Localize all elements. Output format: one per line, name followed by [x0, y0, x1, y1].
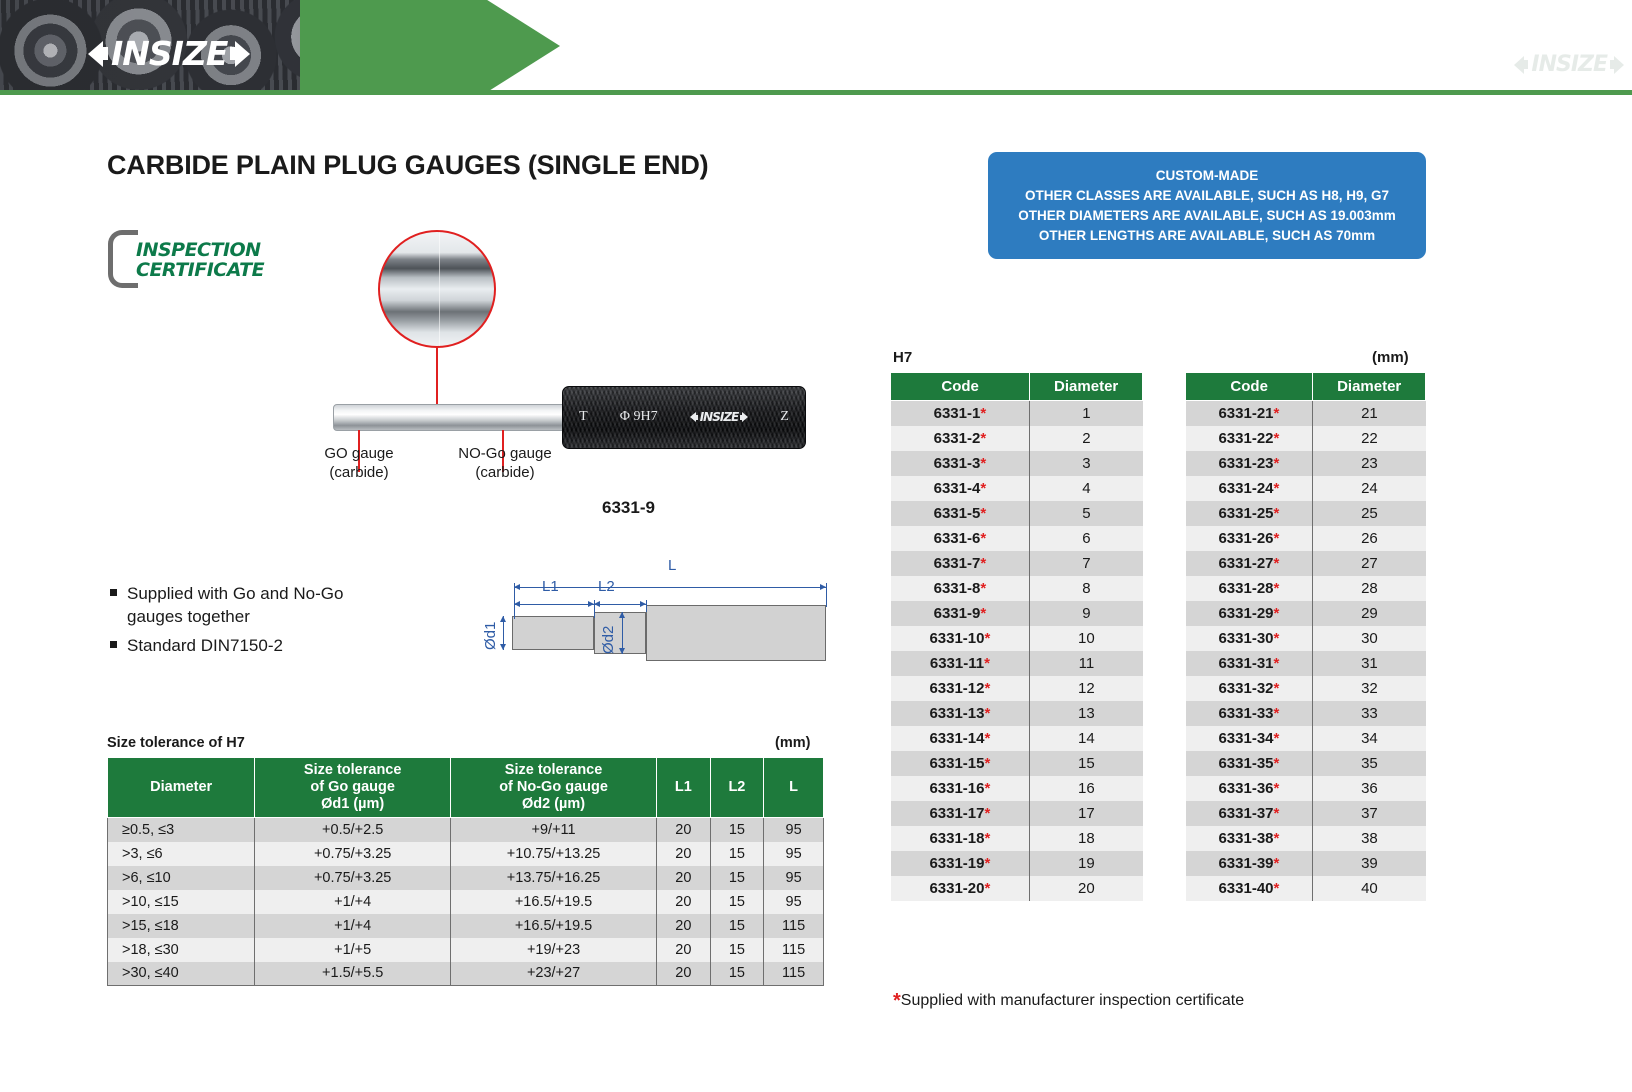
code-value: 6331-11	[930, 655, 984, 672]
code-asterisk-icon: *	[1274, 405, 1280, 422]
code-value: 6331-40	[1218, 880, 1273, 897]
code-cell: 6331-23*	[1186, 451, 1313, 476]
diameter-cell: 38	[1313, 826, 1426, 851]
code-cell: 6331-30*	[1186, 626, 1313, 651]
tolerance-cell-l2: 15	[710, 818, 764, 842]
code-cell: 6331-22*	[1186, 426, 1313, 451]
diameter-cell: 21	[1313, 401, 1426, 426]
table-row: 6331-24*24	[1186, 476, 1426, 501]
page-header: INSIZE INSIZE	[0, 0, 1632, 96]
watermark-wordmark: INSIZE	[1528, 52, 1610, 77]
tolerance-cell-l2: 15	[710, 914, 764, 938]
code-cell: 6331-10*	[891, 626, 1030, 651]
code-value: 6331-36	[1218, 780, 1273, 797]
tolerance-cell-l: 95	[764, 842, 824, 866]
code-value: 6331-8	[934, 580, 981, 597]
code-cell: 6331-11*	[891, 651, 1030, 676]
code-value: 6331-22	[1218, 430, 1273, 447]
feature-text: Supplied with Go and No-Go gauges togeth…	[127, 582, 390, 628]
tolerance-cell-nogo: +19/+23	[451, 938, 657, 962]
table-row: 6331-3*3	[891, 451, 1143, 476]
code-asterisk-icon: *	[1274, 505, 1280, 522]
code-asterisk-icon: *	[1274, 455, 1280, 472]
handle-mark-size: Φ 9H7	[620, 409, 658, 425]
tolerance-cell-go: +1/+4	[255, 890, 451, 914]
tolerance-cell-go: +0.75/+3.25	[255, 842, 451, 866]
code-value: 6331-19	[929, 855, 984, 872]
table-row: 6331-30*30	[1186, 626, 1426, 651]
tolerance-cell-nogo: +13.75/+16.25	[451, 866, 657, 890]
diameter-cell: 33	[1313, 701, 1426, 726]
nogo-gauge-label-line2: (carbide)	[430, 463, 580, 482]
diameter-cell: 24	[1313, 476, 1426, 501]
handle-mark-z: Z	[780, 409, 789, 425]
table-row: 6331-7*7	[891, 551, 1143, 576]
code-cell: 6331-38*	[1186, 826, 1313, 851]
code-value: 6331-6	[934, 530, 981, 547]
table-row: 6331-40*40	[1186, 876, 1426, 901]
code-cell: 6331-9*	[891, 601, 1030, 626]
diagram-dim-d2-down-arrow-icon	[619, 648, 625, 654]
code-asterisk-icon: *	[985, 780, 991, 797]
code-asterisk-icon: *	[985, 680, 991, 697]
diameter-cell: 2	[1030, 426, 1143, 451]
product-code-label: 6331-9	[602, 498, 655, 518]
diagram-handle-body	[646, 605, 826, 661]
col-header-l: L	[764, 758, 824, 818]
tolerance-cell-diameter: >15, ≤18	[108, 914, 255, 938]
code-value: 6331-24	[1218, 480, 1273, 497]
code-asterisk-icon: *	[985, 630, 991, 647]
code-asterisk-icon: *	[1274, 530, 1280, 547]
code-value: 6331-35	[1218, 755, 1273, 772]
code-cell: 6331-18*	[891, 826, 1030, 851]
code-table-right-body: 6331-21*216331-22*226331-23*236331-24*24…	[1186, 401, 1426, 901]
code-value: 6331-28	[1218, 580, 1273, 597]
col-header-diameter: Diameter	[108, 758, 255, 818]
tolerance-table: Diameter Size tolerance of Go gauge Ød1 …	[107, 757, 824, 986]
code-asterisk-icon: *	[985, 705, 991, 722]
code-asterisk-icon: *	[980, 430, 986, 447]
diameter-cell: 5	[1030, 501, 1143, 526]
table-row: 6331-2*2	[891, 426, 1143, 451]
square-bullet-icon	[110, 589, 117, 596]
certificate-label: CERTIFICATE	[136, 260, 264, 280]
col-header-diameter: Diameter	[1030, 373, 1143, 401]
code-cell: 6331-26*	[1186, 526, 1313, 551]
diagram-dim-line-L1	[514, 604, 594, 605]
diagram-dim-L1-left-arrow-icon	[514, 601, 520, 607]
inspection-certificate-text: INSPECTION CERTIFICATE	[136, 240, 264, 280]
diameter-cell: 4	[1030, 476, 1143, 501]
go-gauge-label-line1: GO gauge	[284, 444, 434, 463]
code-value: 6331-21	[1218, 405, 1273, 422]
code-value: 6331-38	[1218, 830, 1273, 847]
certificate-bracket-icon	[108, 230, 138, 288]
code-cell: 6331-3*	[891, 451, 1030, 476]
custom-made-info-box: CUSTOM-MADE OTHER CLASSES ARE AVAILABLE,…	[988, 152, 1426, 259]
table-row: >30, ≤40+1.5/+5.5+23/+272015115	[108, 962, 824, 986]
tolerance-cell-l1: 20	[657, 962, 711, 986]
footnote-text: Supplied with manufacturer inspection ce…	[901, 992, 1244, 1009]
tolerance-cell-go: +0.75/+3.25	[255, 866, 451, 890]
code-asterisk-icon: *	[980, 480, 986, 497]
handle-insize-logo: INSIZE	[690, 410, 749, 424]
table-row: 6331-27*27	[1186, 551, 1426, 576]
tolerance-cell-diameter: >30, ≤40	[108, 962, 255, 986]
diameter-cell: 13	[1030, 701, 1143, 726]
asterisk-footnote: *Supplied with manufacturer inspection c…	[893, 990, 1244, 1013]
watermark-right-arrow-icon	[1614, 56, 1624, 74]
carbide-surface-detail-circle	[378, 230, 496, 348]
table-row: 6331-35*35	[1186, 751, 1426, 776]
tolerance-cell-nogo: +16.5/+19.5	[451, 890, 657, 914]
table-row: 6331-12*12	[891, 676, 1143, 701]
feature-list: Supplied with Go and No-Go gauges togeth…	[110, 582, 390, 663]
code-cell: 6331-14*	[891, 726, 1030, 751]
code-asterisk-icon: *	[985, 755, 991, 772]
code-asterisk-icon: *	[1274, 705, 1280, 722]
code-value: 6331-9	[934, 605, 981, 622]
table-row: 6331-20*20	[891, 876, 1143, 901]
table-row: 6331-1*1	[891, 401, 1143, 426]
table-row: 6331-38*38	[1186, 826, 1426, 851]
tolerance-cell-l1: 20	[657, 842, 711, 866]
code-asterisk-icon: *	[1274, 580, 1280, 597]
code-cell: 6331-13*	[891, 701, 1030, 726]
tolerance-cell-nogo: +9/+11	[451, 818, 657, 842]
feature-text: Standard DIN7150-2	[127, 634, 283, 657]
detail-leader-line	[436, 348, 438, 405]
diameter-cell: 14	[1030, 726, 1143, 751]
diameter-cell: 30	[1313, 626, 1426, 651]
diameter-cell: 27	[1313, 551, 1426, 576]
code-cell: 6331-5*	[891, 501, 1030, 526]
tolerance-cell-l: 95	[764, 890, 824, 914]
code-asterisk-icon: *	[980, 580, 986, 597]
table-row: 6331-21*21	[1186, 401, 1426, 426]
table-row: 6331-34*34	[1186, 726, 1426, 751]
diagram-dim-d1-up-arrow-icon	[500, 616, 506, 622]
col-header-code: Code	[891, 373, 1030, 401]
col-header-l2: L2	[710, 758, 764, 818]
tolerance-cell-go: +1/+4	[255, 914, 451, 938]
tolerance-cell-l2: 15	[710, 890, 764, 914]
table-header-row: Code Diameter	[1186, 373, 1426, 401]
handle-logo-wordmark: INSIZE	[698, 410, 741, 424]
code-asterisk-icon: *	[1274, 855, 1280, 872]
diameter-cell: 8	[1030, 576, 1143, 601]
go-gauge-callout-label: GO gauge (carbide)	[284, 444, 434, 482]
handle-mark-t: T	[579, 409, 588, 425]
code-asterisk-icon: *	[1274, 780, 1280, 797]
code-cell: 6331-36*	[1186, 776, 1313, 801]
code-asterisk-icon: *	[985, 830, 991, 847]
table-row: 6331-32*32	[1186, 676, 1426, 701]
code-cell: 6331-16*	[891, 776, 1030, 801]
tolerance-cell-go: +1/+5	[255, 938, 451, 962]
diameter-cell: 28	[1313, 576, 1426, 601]
tolerance-cell-l: 95	[764, 818, 824, 842]
diameter-cell: 35	[1313, 751, 1426, 776]
diagram-section-d1	[512, 616, 594, 650]
code-value: 6331-25	[1218, 505, 1273, 522]
diameter-cell: 12	[1030, 676, 1143, 701]
code-value: 6331-27	[1218, 555, 1273, 572]
table-row: 6331-11*11	[891, 651, 1143, 676]
table-row: 6331-39*39	[1186, 851, 1426, 876]
code-cell: 6331-12*	[891, 676, 1030, 701]
tolerance-cell-diameter: >6, ≤10	[108, 866, 255, 890]
logo-right-arrow-icon	[235, 41, 250, 67]
logo-wordmark: INSIZE	[108, 34, 230, 73]
watermark-left-arrow-icon	[1514, 56, 1524, 74]
diameter-cell: 11	[1030, 651, 1143, 676]
code-value: 6331-33	[1218, 705, 1273, 722]
tolerance-cell-nogo: +10.75/+13.25	[451, 842, 657, 866]
code-cell: 6331-1*	[891, 401, 1030, 426]
tolerance-cell-l1: 20	[657, 866, 711, 890]
diameter-cell: 22	[1313, 426, 1426, 451]
insize-logo: INSIZE	[88, 34, 250, 73]
tolerance-cell-l: 115	[764, 962, 824, 986]
code-cell: 6331-24*	[1186, 476, 1313, 501]
code-cell: 6331-8*	[891, 576, 1030, 601]
code-cell: 6331-15*	[891, 751, 1030, 776]
tolerance-cell-l2: 15	[710, 842, 764, 866]
code-cell: 6331-40*	[1186, 876, 1313, 901]
code-value: 6331-3	[934, 455, 981, 472]
code-cell: 6331-2*	[891, 426, 1030, 451]
code-cell: 6331-33*	[1186, 701, 1313, 726]
code-asterisk-icon: *	[984, 655, 990, 672]
code-value: 6331-39	[1218, 855, 1273, 872]
table-row: 6331-13*13	[891, 701, 1143, 726]
tolerance-cell-l1: 20	[657, 914, 711, 938]
col-header-nogo-l3: Ød2 (µm)	[454, 796, 653, 813]
carbide-gauge-pin	[333, 404, 568, 431]
table-row: >18, ≤30+1/+5+19/+232015115	[108, 938, 824, 962]
table-row: 6331-4*4	[891, 476, 1143, 501]
col-header-go-l1: Size tolerance	[258, 762, 447, 779]
code-asterisk-icon: *	[1274, 655, 1280, 672]
tolerance-cell-l1: 20	[657, 938, 711, 962]
code-value: 6331-16	[929, 780, 984, 797]
square-bullet-icon	[110, 641, 117, 648]
code-asterisk-icon: *	[985, 730, 991, 747]
col-header-nogo-l1: Size tolerance	[454, 762, 653, 779]
diagram-label-L1: L1	[542, 578, 559, 595]
gauge-handle: T Φ 9H7 INSIZE Z	[562, 386, 806, 449]
tolerance-cell-go: +0.5/+2.5	[255, 818, 451, 842]
table-row: 6331-10*10	[891, 626, 1143, 651]
custom-made-lengths-line: OTHER LENGTHS ARE AVAILABLE, SUCH AS 70m…	[1039, 226, 1375, 246]
diagram-dim-d1-down-arrow-icon	[500, 644, 506, 650]
code-value: 6331-23	[1218, 455, 1273, 472]
tolerance-cell-l: 115	[764, 938, 824, 962]
header-green-rule	[0, 90, 1632, 95]
diameter-cell: 31	[1313, 651, 1426, 676]
tolerance-cell-l2: 15	[710, 938, 764, 962]
diagram-label-L2: L2	[598, 578, 615, 595]
col-header-l1-mid: L1	[660, 779, 707, 796]
diameter-cell: 3	[1030, 451, 1143, 476]
table-row: 6331-16*16	[891, 776, 1143, 801]
tolerance-cell-diameter: >3, ≤6	[108, 842, 255, 866]
tolerance-cell-l2: 15	[710, 866, 764, 890]
code-asterisk-icon: *	[1274, 730, 1280, 747]
nogo-gauge-label-line1: NO-Go gauge	[430, 444, 580, 463]
code-cell: 6331-17*	[891, 801, 1030, 826]
code-asterisk-icon: *	[1274, 755, 1280, 772]
tolerance-cell-l2: 15	[710, 962, 764, 986]
code-asterisk-icon: *	[1274, 430, 1280, 447]
tolerance-cell-go: +1.5/+5.5	[255, 962, 451, 986]
diameter-cell: 1	[1030, 401, 1143, 426]
col-header-l-mid: L	[767, 779, 820, 796]
tolerance-cell-l: 115	[764, 914, 824, 938]
col-header-go-l3: Ød1 (µm)	[258, 796, 447, 813]
diameter-cell: 16	[1030, 776, 1143, 801]
diagram-label-d2: Ød2	[600, 626, 617, 654]
code-tables-unit: (mm)	[1372, 349, 1409, 366]
col-header-diameter: Diameter	[1313, 373, 1426, 401]
inspection-certificate-badge: INSPECTION CERTIFICATE	[108, 228, 308, 294]
col-header-nogo-l2: of No-Go gauge	[454, 779, 653, 796]
col-header-l2-mid: L2	[714, 779, 761, 796]
tolerance-table-unit: (mm)	[775, 735, 810, 751]
table-row: 6331-17*17	[891, 801, 1143, 826]
code-cell: 6331-21*	[1186, 401, 1313, 426]
table-row: 6331-29*29	[1186, 601, 1426, 626]
list-item: Supplied with Go and No-Go gauges togeth…	[110, 582, 390, 628]
code-value: 6331-15	[929, 755, 984, 772]
code-cell: 6331-4*	[891, 476, 1030, 501]
col-header-nogo-tolerance: Size tolerance of No-Go gauge Ød2 (µm)	[451, 758, 657, 818]
code-cell: 6331-7*	[891, 551, 1030, 576]
col-header-code: Code	[1186, 373, 1313, 401]
code-value: 6331-10	[929, 630, 984, 647]
tolerance-table-caption: Size tolerance of H7	[107, 735, 245, 751]
code-value: 6331-26	[1218, 530, 1273, 547]
code-asterisk-icon: *	[985, 855, 991, 872]
table-row: 6331-36*36	[1186, 776, 1426, 801]
table-row: >15, ≤18+1/+4+16.5/+19.52015115	[108, 914, 824, 938]
table-row: ≥0.5, ≤3+0.5/+2.5+9/+11201595	[108, 818, 824, 842]
handle-logo-right-arrow-icon	[742, 412, 748, 422]
code-asterisk-icon: *	[1274, 605, 1280, 622]
col-header-diameter-l2: Diameter	[111, 779, 251, 796]
table-row: 6331-9*9	[891, 601, 1143, 626]
diagram-label-d1: Ød1	[482, 622, 499, 650]
code-asterisk-icon: *	[980, 405, 986, 422]
code-cell: 6331-28*	[1186, 576, 1313, 601]
code-value: 6331-32	[1218, 680, 1273, 697]
table-row: 6331-6*6	[891, 526, 1143, 551]
code-cell: 6331-27*	[1186, 551, 1313, 576]
diagram-label-L: L	[668, 557, 676, 574]
tolerance-table-body: ≥0.5, ≤3+0.5/+2.5+9/+11201595>3, ≤6+0.75…	[108, 818, 824, 986]
diagram-ext-line-L-right	[826, 583, 827, 607]
diameter-cell: 29	[1313, 601, 1426, 626]
list-item: Standard DIN7150-2	[110, 634, 390, 657]
diameter-cell: 32	[1313, 676, 1426, 701]
code-value: 6331-30	[1218, 630, 1273, 647]
diameter-cell: 17	[1030, 801, 1143, 826]
header-green-arrow-shape	[300, 0, 560, 92]
code-asterisk-icon: *	[1274, 680, 1280, 697]
tolerance-cell-diameter: >10, ≤15	[108, 890, 255, 914]
table-header-row: Code Diameter	[891, 373, 1143, 401]
diameter-cell: 34	[1313, 726, 1426, 751]
table-row: 6331-23*23	[1186, 451, 1426, 476]
col-header-go-l2: of Go gauge	[258, 779, 447, 796]
diameter-cell: 36	[1313, 776, 1426, 801]
code-asterisk-icon: *	[980, 555, 986, 572]
code-table-left: Code Diameter 6331-1*16331-2*26331-3*363…	[890, 372, 1143, 901]
code-value: 6331-2	[934, 430, 981, 447]
code-asterisk-icon: *	[1274, 630, 1280, 647]
table-row: 6331-18*18	[891, 826, 1143, 851]
diameter-cell: 23	[1313, 451, 1426, 476]
diameter-cell: 26	[1313, 526, 1426, 551]
code-value: 6331-37	[1218, 805, 1273, 822]
diameter-cell: 19	[1030, 851, 1143, 876]
diameter-cell: 18	[1030, 826, 1143, 851]
table-row: 6331-8*8	[891, 576, 1143, 601]
table-header-row: Diameter Size tolerance of Go gauge Ød1 …	[108, 758, 824, 818]
table-row: 6331-5*5	[891, 501, 1143, 526]
tolerance-cell-l1: 20	[657, 818, 711, 842]
tolerance-cell-nogo: +23/+27	[451, 962, 657, 986]
table-row: >6, ≤10+0.75/+3.25+13.75/+16.25201595	[108, 866, 824, 890]
tolerance-cell-l1: 20	[657, 890, 711, 914]
diameter-cell: 39	[1313, 851, 1426, 876]
code-value: 6331-13	[929, 705, 984, 722]
table-row: 6331-19*19	[891, 851, 1143, 876]
table-row: 6331-37*37	[1186, 801, 1426, 826]
footnote-asterisk-icon: *	[893, 990, 901, 1012]
diameter-cell: 15	[1030, 751, 1143, 776]
code-value: 6331-5	[934, 505, 981, 522]
code-cell: 6331-19*	[891, 851, 1030, 876]
col-header-go-tolerance: Size tolerance of Go gauge Ød1 (µm)	[255, 758, 451, 818]
code-cell: 6331-34*	[1186, 726, 1313, 751]
code-cell: 6331-37*	[1186, 801, 1313, 826]
code-value: 6331-14	[929, 730, 984, 747]
code-value: 6331-17	[929, 805, 984, 822]
col-header-l1: L1	[657, 758, 711, 818]
code-asterisk-icon: *	[985, 880, 991, 897]
table-row: 6331-22*22	[1186, 426, 1426, 451]
code-value: 6331-29	[1218, 605, 1273, 622]
code-asterisk-icon: *	[980, 530, 986, 547]
code-value: 6331-7	[934, 555, 981, 572]
tolerance-cell-diameter: >18, ≤30	[108, 938, 255, 962]
diameter-cell: 6	[1030, 526, 1143, 551]
custom-made-heading: CUSTOM-MADE	[1156, 166, 1259, 186]
code-cell: 6331-35*	[1186, 751, 1313, 776]
diagram-dim-d2-up-arrow-icon	[619, 612, 625, 618]
code-asterisk-icon: *	[1274, 480, 1280, 497]
code-asterisk-icon: *	[980, 605, 986, 622]
diameter-cell: 20	[1030, 876, 1143, 901]
code-value: 6331-31	[1218, 655, 1273, 672]
code-value: 6331-12	[929, 680, 984, 697]
handle-markings: T Φ 9H7 INSIZE Z	[563, 409, 805, 425]
custom-made-classes-line: OTHER CLASSES ARE AVAILABLE, SUCH AS H8,…	[1025, 186, 1389, 206]
table-row: 6331-33*33	[1186, 701, 1426, 726]
